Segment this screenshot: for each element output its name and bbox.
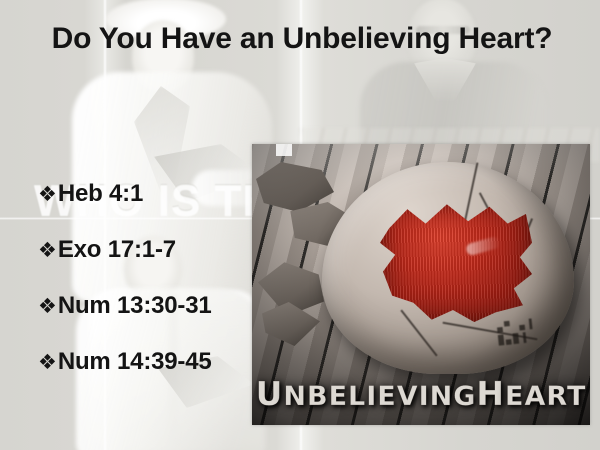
list-item-label: Num 13:30-31: [58, 292, 212, 320]
caption-cap-h: H: [476, 374, 505, 413]
presentation-slide: WHO IS TH Do You Have an Unbelieving Hea…: [0, 0, 600, 450]
cracked-stone-heart-photo[interactable]: ▄▀ ▄▐ █▄█▐ UNBELIEVING HEART: [252, 144, 590, 425]
photo-caption: UNBELIEVING HEART: [252, 374, 590, 413]
list-item-label: Exo 17:1-7: [58, 236, 176, 264]
list-item[interactable]: ❖ Exo 17:1-7: [38, 236, 268, 292]
scripture-reference-list: ❖ Heb 4:1 ❖ Exo 17:1-7 ❖ Num 13:30-31 ❖ …: [38, 180, 268, 404]
list-item-label: Heb 4:1: [58, 180, 143, 208]
list-item[interactable]: ❖ Heb 4:1: [38, 180, 268, 236]
slide-title: Do You Have an Unbelieving Heart?: [36, 22, 568, 56]
caption-word-two: EART: [505, 381, 586, 412]
list-item[interactable]: ❖ Num 14:39-45: [38, 348, 268, 404]
list-item-label: Num 14:39-45: [58, 348, 212, 376]
bullet-diamond-icon: ❖: [38, 240, 57, 261]
bullet-diamond-icon: ❖: [38, 296, 57, 317]
engraved-marks: ▄▀ ▄▐ █▄█▐: [497, 318, 548, 353]
divider-bleed: [276, 144, 292, 156]
bullet-diamond-icon: ❖: [38, 352, 57, 373]
list-item[interactable]: ❖ Num 13:30-31: [38, 292, 268, 348]
caption-word-one: NBELIEVING: [283, 381, 476, 412]
bullet-diamond-icon: ❖: [38, 184, 57, 205]
